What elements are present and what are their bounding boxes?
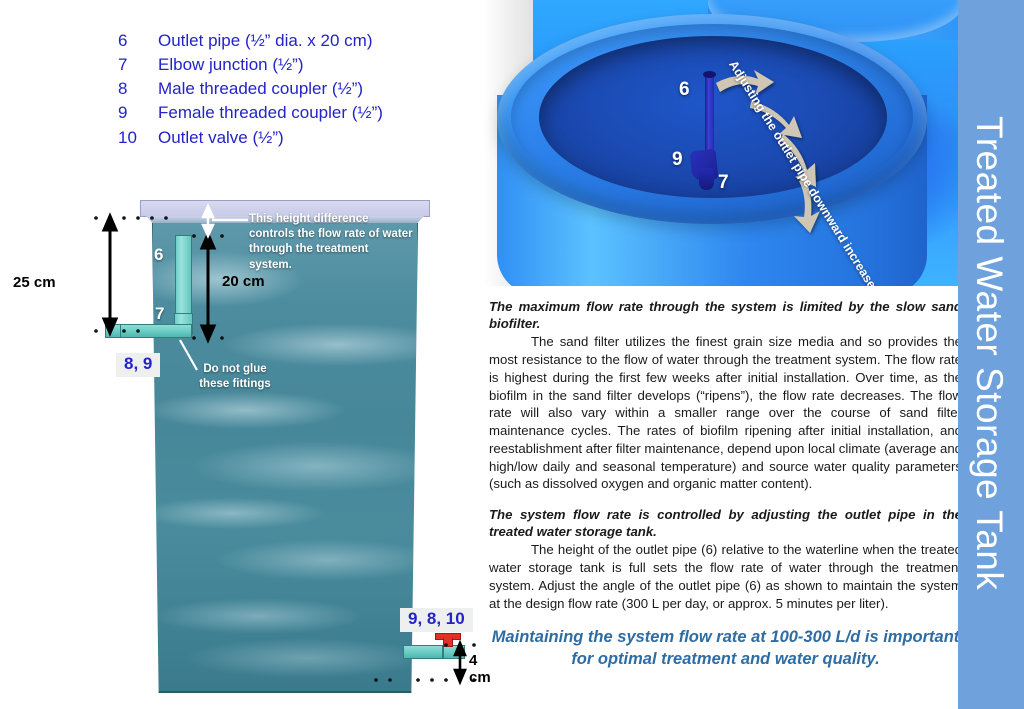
part-label: Female threaded coupler (½”)	[158, 101, 478, 125]
part-number: 6	[118, 29, 158, 53]
dimension-4cm-arrow	[455, 643, 465, 682]
photo-callout-9: 9	[672, 149, 683, 171]
part-number: 7	[118, 53, 158, 77]
slide-page: 6 Outlet pipe (½” dia. x 20 cm) 7 Elbow …	[0, 0, 1024, 709]
dimension-label-25cm: 25 cm	[13, 274, 56, 291]
page-title: Treated Water Storage Tank	[968, 116, 1010, 590]
elbow-stem-photo	[699, 168, 714, 190]
dimension-label-4cm: 4 cm	[469, 652, 491, 686]
list-item: 7 Elbow junction (½”)	[118, 53, 478, 77]
section-1-heading: The maximum flow rate through the system…	[489, 298, 962, 332]
part-number: 8	[118, 77, 158, 101]
closing-statement: Maintaining the system flow rate at 100-…	[489, 626, 962, 670]
part-number: 9	[118, 101, 158, 125]
tank-cross-section-diagram: 6 7	[0, 190, 480, 709]
do-not-glue-callout: Do not glue these fittings	[189, 362, 281, 392]
part-label: Outlet valve (½”)	[158, 126, 478, 150]
list-item: 6 Outlet pipe (½” dia. x 20 cm)	[118, 29, 478, 53]
part-label: Outlet pipe (½” dia. x 20 cm)	[158, 29, 478, 53]
list-item: 8 Male threaded coupler (½”)	[118, 77, 478, 101]
list-item: 10 Outlet valve (½”)	[118, 126, 478, 150]
section-1-body: The sand filter utilizes the finest grai…	[489, 333, 962, 493]
tag-9-8-10: 9, 8, 10	[400, 608, 473, 632]
part-label: Male threaded coupler (½”)	[158, 77, 478, 101]
list-item: 9 Female threaded coupler (½”)	[118, 101, 478, 125]
paragraph-spacer	[489, 493, 962, 506]
photo-callout-6: 6	[679, 79, 690, 101]
section-2-heading: The system flow rate is controlled by ad…	[489, 506, 962, 540]
photo-callout-7: 7	[718, 172, 729, 194]
part-label: Elbow junction (½”)	[158, 53, 478, 77]
tag-8-9: 8, 9	[116, 353, 160, 377]
part-number: 10	[118, 126, 158, 150]
dimension-25cm-arrow	[104, 216, 116, 333]
body-text-column: The maximum flow rate through the system…	[489, 298, 962, 687]
tank-top-photo: 6 9 7 Adjusting the outlet pipe downward…	[483, 0, 961, 286]
section-2-body: The height of the outlet pipe (6) relati…	[489, 541, 962, 612]
outlet-pipe-opening	[703, 71, 716, 78]
parts-list: 6 Outlet pipe (½” dia. x 20 cm) 7 Elbow …	[118, 29, 478, 150]
height-difference-arrow	[203, 206, 213, 236]
dimension-label-20cm: 20 cm	[222, 273, 265, 290]
height-difference-callout: This height difference controls the flow…	[249, 212, 414, 273]
dimension-20cm-arrow	[202, 234, 214, 340]
side-title-bar: Treated Water Storage Tank	[958, 0, 1024, 709]
